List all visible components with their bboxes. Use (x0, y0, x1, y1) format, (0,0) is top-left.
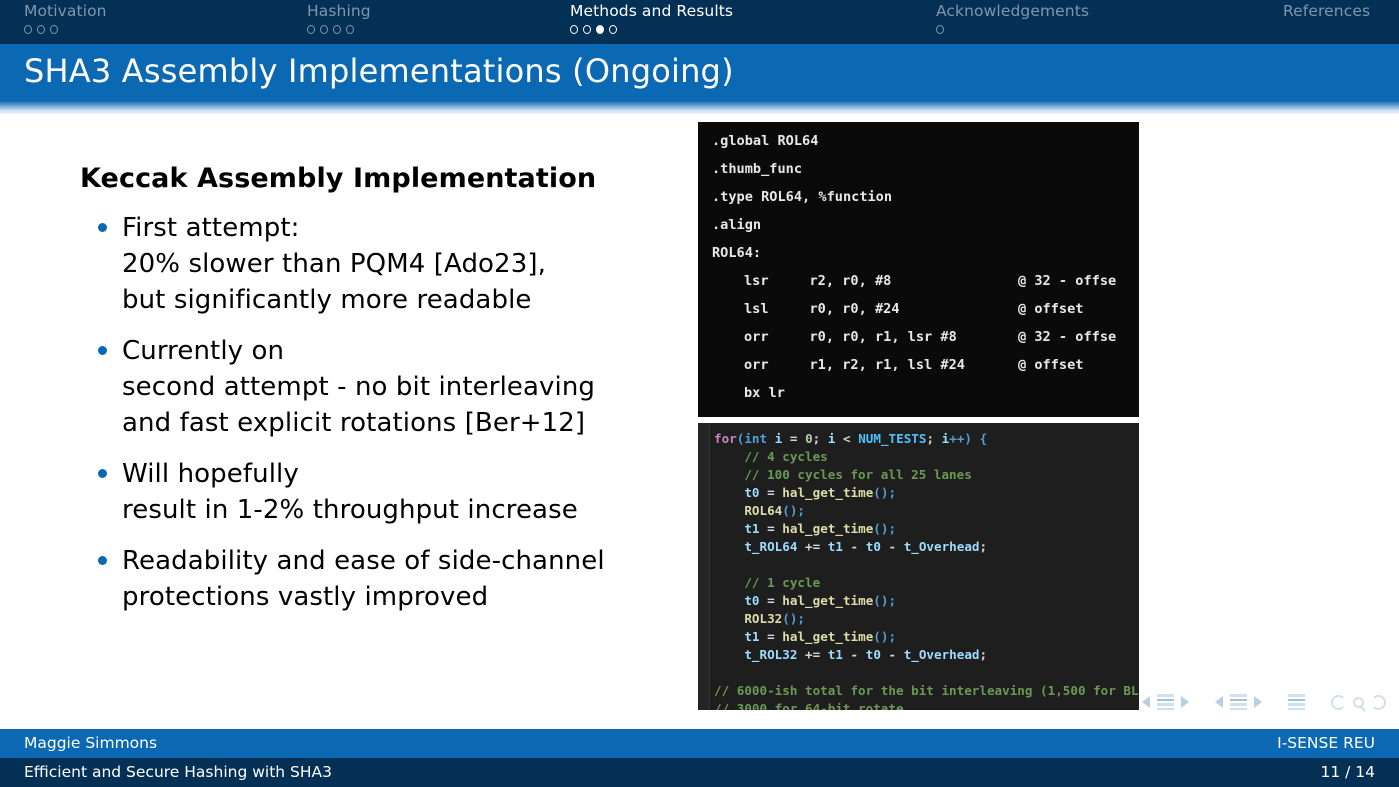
assembly-instruction-line: lsr r2, r0, #8 (744, 273, 891, 289)
nav-section-methods-and-results[interactable]: Methods and Results (570, 2, 733, 34)
bullet-line: Currently on (122, 333, 690, 369)
assembly-code-screenshot: .global ROL64.thumb_func.type ROL64, %fu… (698, 122, 1139, 417)
nav-section-label: Acknowledgements (936, 2, 1089, 21)
footer-page-number: 11 / 14 (1320, 763, 1375, 781)
nav-section-acknowledgements[interactable]: Acknowledgements (936, 2, 1089, 34)
nav-dot[interactable] (37, 25, 45, 34)
nav-dots (24, 25, 107, 34)
assembly-instruction-line: bx lr (744, 385, 785, 401)
bullet-list: First attempt:20% slower than PQM4 [Ado2… (80, 210, 690, 615)
nav-dots (570, 25, 733, 34)
c-code-line: // 1 cycle (714, 575, 820, 590)
bullet-line: Will hopefully (122, 456, 690, 492)
assembly-instruction-line: orr r0, r0, r1, lsr #8 (744, 329, 957, 345)
assembly-directive-line: .thumb_func (712, 161, 802, 177)
assembly-directive-line: .global ROL64 (712, 133, 818, 149)
assembly-comment: @ 32 - offse (1018, 273, 1116, 289)
next-frame-icon[interactable] (1254, 696, 1262, 708)
footer-talk-title: Efficient and Secure Hashing with SHA3 (24, 763, 332, 781)
bullet-item: Will hopefullyresult in 1-2% throughput … (80, 456, 690, 528)
nav-dot[interactable] (570, 25, 578, 34)
nav-section-references[interactable]: References (1283, 2, 1370, 25)
footer-title-bar: Efficient and Secure Hashing with SHA3 1… (0, 758, 1399, 787)
c-code-line: ROL32(); (714, 611, 805, 626)
c-code-screenshot: for(int i = 0; i < NUM_TESTS; i++) { // … (698, 423, 1139, 710)
nav-dot[interactable] (346, 25, 354, 34)
nav-dot[interactable] (320, 25, 328, 34)
c-code-line: t1 = hal_get_time(); (714, 521, 896, 536)
footer-author: Maggie Simmons (24, 734, 157, 752)
title-bar-gradient (0, 101, 1399, 115)
bullet-line: result in 1-2% throughput increase (122, 492, 690, 528)
content-column: Keccak Assembly Implementation First att… (80, 163, 690, 630)
presentation-icon[interactable] (1288, 694, 1305, 710)
section-navigation-bar: Motivation Hashing Methods and Results A… (0, 0, 1399, 44)
assembly-directive-line: .type ROL64, %function (712, 189, 892, 205)
nav-section-label: References (1283, 2, 1370, 21)
assembly-instruction-line: lsl r0, r0, #24 (744, 301, 900, 317)
nav-dots (307, 25, 371, 34)
c-code-line (714, 665, 722, 680)
slide-body: Keccak Assembly Implementation First att… (0, 115, 1399, 685)
slide-icon[interactable] (1157, 694, 1174, 710)
presentation-slide: Motivation Hashing Methods and Results A… (0, 0, 1399, 787)
previous-slide-icon[interactable] (1142, 696, 1150, 708)
c-code-line: // 3000 for 64-bit rotate (714, 701, 904, 710)
c-code-line: t0 = hal_get_time(); (714, 485, 896, 500)
nav-dot[interactable] (936, 25, 944, 34)
next-slide-icon[interactable] (1181, 696, 1189, 708)
nav-dots (936, 25, 1089, 34)
nav-dot[interactable] (609, 25, 617, 34)
back-arrow-icon[interactable] (1331, 695, 1346, 710)
bullet-line: protections vastly improved (122, 579, 690, 615)
nav-section-label: Motivation (24, 2, 107, 21)
assembly-comment: @ offset (1018, 301, 1083, 317)
nav-section-label: Methods and Results (570, 2, 733, 21)
frame-icon[interactable] (1230, 694, 1247, 710)
forward-arrow-icon[interactable] (1371, 695, 1386, 710)
bullet-item: First attempt:20% slower than PQM4 [Ado2… (80, 210, 690, 318)
assembly-comment: @ offset (1018, 357, 1083, 373)
bullet-line: and fast explicit rotations [Ber+12] (122, 405, 690, 441)
c-code-line: for(int i = 0; i < NUM_TESTS; i++) { (714, 431, 987, 446)
c-code-line: // 4 cycles (714, 449, 828, 464)
content-heading: Keccak Assembly Implementation (80, 163, 690, 194)
search-icon[interactable] (1353, 697, 1364, 708)
nav-dot[interactable] (24, 25, 32, 34)
nav-section-label: Hashing (307, 2, 371, 21)
bullet-line: but significantly more readable (122, 282, 690, 318)
assembly-directive-line: ROL64: (712, 245, 761, 261)
bullet-item: Currently onsecond attempt - no bit inte… (80, 333, 690, 441)
bullet-line: First attempt: (122, 210, 690, 246)
c-code-line: // 100 cycles for all 25 lanes (714, 467, 972, 482)
c-code-line (714, 557, 722, 572)
nav-dot[interactable] (307, 25, 315, 34)
assembly-instruction-line: orr r1, r2, r1, lsl #24 (744, 357, 965, 373)
previous-frame-icon[interactable] (1215, 696, 1223, 708)
bullet-line: second attempt - no bit interleaving (122, 369, 690, 405)
c-code-line: t0 = hal_get_time(); (714, 593, 896, 608)
nav-dot[interactable] (583, 25, 591, 34)
c-code-line: ROL64(); (714, 503, 805, 518)
nav-dot-current[interactable] (596, 25, 604, 34)
nav-section-motivation[interactable]: Motivation (24, 2, 107, 34)
nav-dot[interactable] (50, 25, 58, 34)
assembly-directive-line: .align (712, 217, 761, 233)
footer-author-bar: Maggie Simmons I-SENSE REU (0, 729, 1399, 758)
bullet-line: 20% slower than PQM4 [Ado23], (122, 246, 690, 282)
editor-gutter (698, 423, 710, 710)
bullet-item: Readability and ease of side-channelprot… (80, 543, 690, 615)
nav-section-hashing[interactable]: Hashing (307, 2, 371, 34)
page-title: SHA3 Assembly Implementations (Ongoing) (24, 52, 734, 90)
bullet-line: Readability and ease of side-channel (122, 543, 690, 579)
slide-title-bar: SHA3 Assembly Implementations (Ongoing) (0, 44, 1399, 101)
c-code-line: t1 = hal_get_time(); (714, 629, 896, 644)
c-code-line: t_ROL32 += t1 - t0 - t_Overhead; (714, 647, 987, 662)
c-code-line: t_ROL64 += t1 - t0 - t_Overhead; (714, 539, 987, 554)
beamer-navigation-symbols[interactable] (1142, 694, 1386, 710)
nav-dot[interactable] (333, 25, 341, 34)
footer-institute: I-SENSE REU (1277, 734, 1375, 752)
assembly-comment: @ 32 - offse (1018, 329, 1116, 345)
c-code-line: // 6000-ish total for the bit interleavi… (714, 683, 1139, 698)
